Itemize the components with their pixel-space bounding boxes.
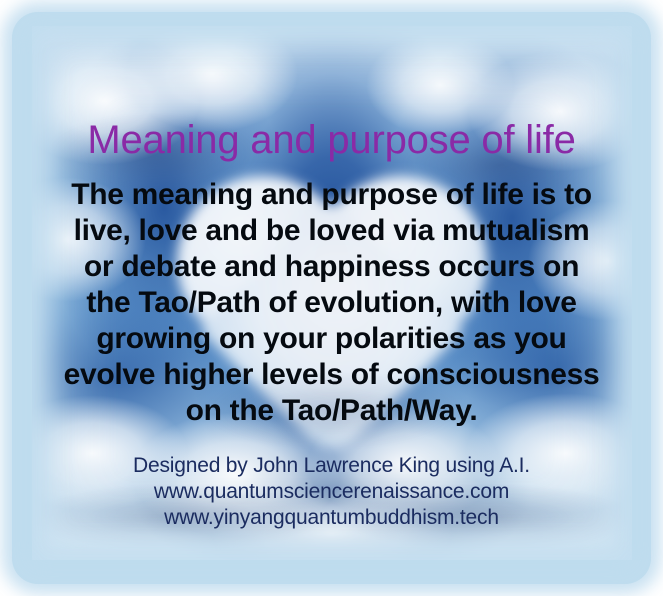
body-line: on the Tao/Path/Way. bbox=[58, 393, 605, 429]
credit-website-2[interactable]: www.yinyangquantumbuddhism.tech bbox=[12, 505, 651, 531]
body-line: growing on your polarities as you bbox=[58, 321, 605, 357]
body-line: or debate and happiness occurs on bbox=[58, 249, 605, 285]
credit-designer: Designed by John Lawrence King using A.I… bbox=[12, 453, 651, 479]
body-line: evolve higher levels of consciousness bbox=[58, 357, 605, 393]
page-title: Meaning and purpose of life bbox=[12, 119, 651, 161]
poster-canvas: Meaning and purpose of life The meaning … bbox=[0, 0, 663, 596]
credit-website-1[interactable]: www.quantumsciencerenaissance.com bbox=[12, 479, 651, 505]
body-line: the Tao/Path of evolution, with love bbox=[58, 285, 605, 321]
poster-body-text: The meaning and purpose of life is to li… bbox=[58, 177, 605, 429]
poster-frame: Meaning and purpose of life The meaning … bbox=[12, 12, 651, 584]
poster-credits: Designed by John Lawrence King using A.I… bbox=[12, 453, 651, 531]
body-line: live, love and be loved via mutualism bbox=[58, 213, 605, 249]
poster-text-stack: Meaning and purpose of life The meaning … bbox=[12, 12, 651, 584]
body-line: The meaning and purpose of life is to bbox=[58, 177, 605, 213]
